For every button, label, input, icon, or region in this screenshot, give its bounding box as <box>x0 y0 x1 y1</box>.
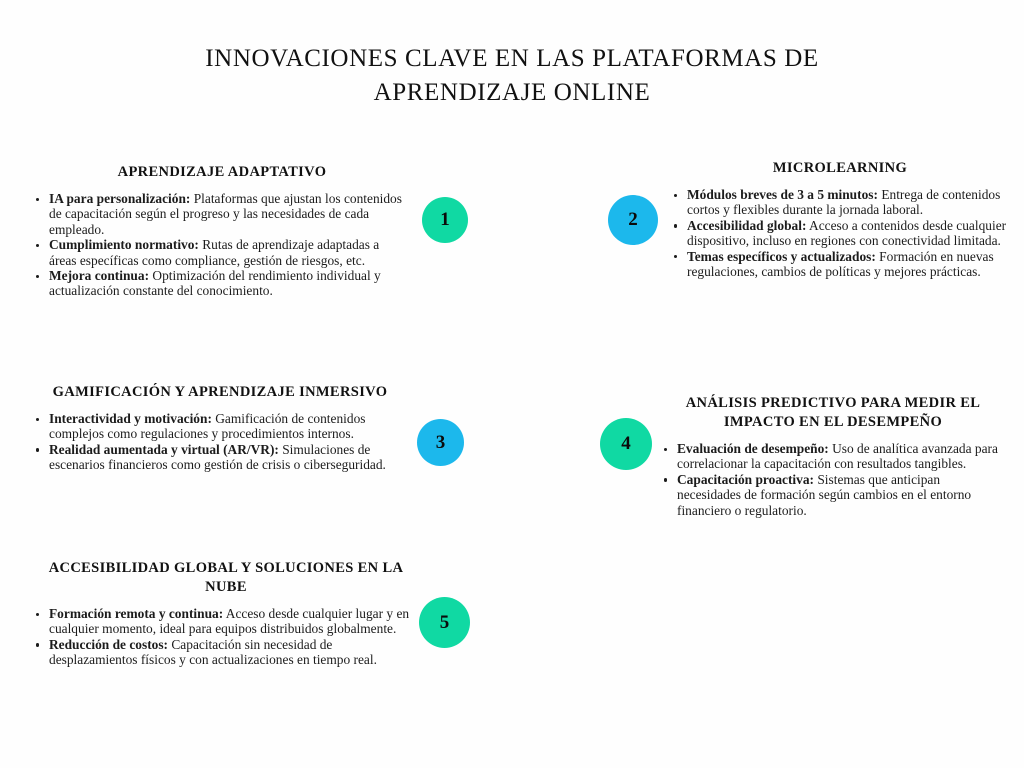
bullet-lead: Módulos breves de 3 a 5 minutos: <box>687 187 878 202</box>
bullet-lead: Cumplimiento normativo: <box>49 237 199 252</box>
list-item: Capacitación proactiva: Sistemas que ant… <box>662 472 1004 518</box>
section-4-heading: ANÁLISIS PREDICTIVO PARA MEDIR EL IMPACT… <box>656 394 1010 432</box>
bullet-lead: Evaluación de desempeño: <box>677 441 829 456</box>
list-item: Temas específicos y actualizados: Formac… <box>672 249 1008 280</box>
section-2-heading: MICROLEARNING <box>672 159 1008 178</box>
section-3-heading: GAMIFICACIÓN Y APRENDIZAJE INMERSIVO <box>34 383 406 402</box>
section-2-bullet-list: Módulos breves de 3 a 5 minutos: Entrega… <box>672 187 1008 279</box>
section-1: APRENDIZAJE ADAPTATIVO IA para personali… <box>34 163 504 299</box>
list-item: Accesibilidad global: Acceso a contenido… <box>672 218 1008 249</box>
section-5-number-badge: 5 <box>419 597 470 648</box>
section-1-text: APRENDIZAJE ADAPTATIVO IA para personali… <box>34 163 410 299</box>
bullet-lead: Mejora continua: <box>49 268 149 283</box>
section-3-number-badge: 3 <box>417 419 464 466</box>
section-5-bullet-list: Formación remota y continua: Acceso desd… <box>34 606 418 668</box>
bullet-lead: Accesibilidad global: <box>687 218 806 233</box>
section-2-number-badge: 2 <box>608 195 658 245</box>
section-1-number-badge: 1 <box>422 197 468 243</box>
bullet-lead: Capacitación proactiva: <box>677 472 814 487</box>
section-5-heading: ACCESIBILIDAD GLOBAL Y SOLUCIONES EN LA … <box>34 559 418 597</box>
list-item: Evaluación de desempeño: Uso de analític… <box>662 441 1004 472</box>
bullet-lead: Temas específicos y actualizados: <box>687 249 876 264</box>
section-1-heading: APRENDIZAJE ADAPTATIVO <box>34 163 410 182</box>
section-4-text: ANÁLISIS PREDICTIVO PARA MEDIR EL IMPACT… <box>662 394 1004 518</box>
section-2: MICROLEARNING Módulos breves de 3 a 5 mi… <box>608 159 1018 279</box>
section-5: ACCESIBILIDAD GLOBAL Y SOLUCIONES EN LA … <box>34 559 504 668</box>
list-item: Mejora continua: Optimización del rendim… <box>34 268 410 299</box>
list-item: IA para personalización: Plataformas que… <box>34 191 410 237</box>
section-5-text: ACCESIBILIDAD GLOBAL Y SOLUCIONES EN LA … <box>34 559 418 668</box>
list-item: Cumplimiento normativo: Rutas de aprendi… <box>34 237 410 268</box>
section-3-text: GAMIFICACIÓN Y APRENDIZAJE INMERSIVO Int… <box>34 383 406 473</box>
list-item: Módulos breves de 3 a 5 minutos: Entrega… <box>672 187 1008 218</box>
bullet-lead: IA para personalización: <box>49 191 190 206</box>
section-1-bullet-list: IA para personalización: Plataformas que… <box>34 191 410 299</box>
section-2-text: MICROLEARNING Módulos breves de 3 a 5 mi… <box>672 159 1008 279</box>
section-4: ANÁLISIS PREDICTIVO PARA MEDIR EL IMPACT… <box>600 394 1020 518</box>
bullet-lead: Realidad aumentada y virtual (AR/VR): <box>49 442 279 457</box>
section-4-bullet-list: Evaluación de desempeño: Uso de analític… <box>662 441 1004 518</box>
bullet-lead: Reducción de costos: <box>49 637 168 652</box>
infographic-canvas: INNOVACIONES CLAVE EN LAS PLATAFORMAS DE… <box>0 0 1024 768</box>
list-item: Reducción de costos: Capacitación sin ne… <box>34 637 418 668</box>
page-title: INNOVACIONES CLAVE EN LAS PLATAFORMAS DE… <box>162 42 862 110</box>
bullet-lead: Interactividad y motivación: <box>49 411 212 426</box>
section-3-bullet-list: Interactividad y motivación: Gamificació… <box>34 411 406 473</box>
list-item: Interactividad y motivación: Gamificació… <box>34 411 406 442</box>
list-item: Realidad aumentada y virtual (AR/VR): Si… <box>34 442 406 473</box>
bullet-lead: Formación remota y continua: <box>49 606 223 621</box>
list-item: Formación remota y continua: Acceso desd… <box>34 606 418 637</box>
section-3: GAMIFICACIÓN Y APRENDIZAJE INMERSIVO Int… <box>34 383 504 473</box>
section-4-number-badge: 4 <box>600 418 652 470</box>
